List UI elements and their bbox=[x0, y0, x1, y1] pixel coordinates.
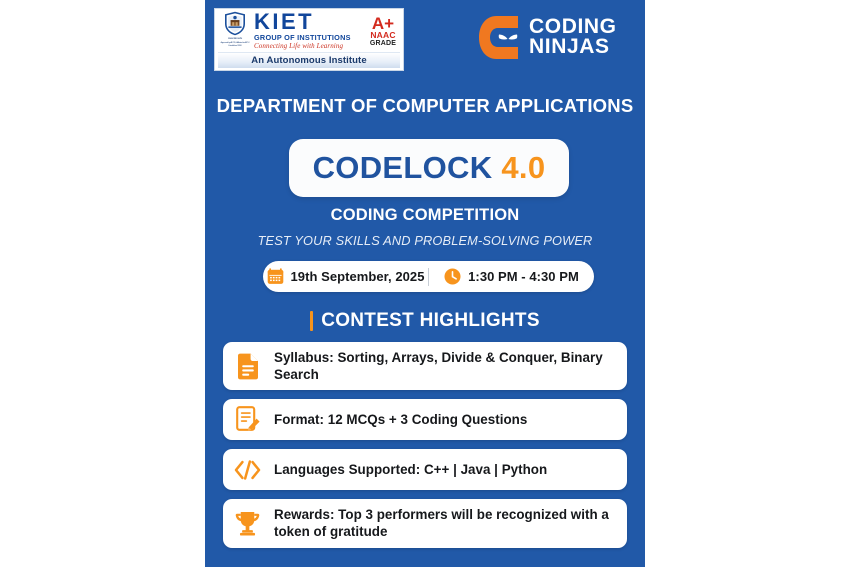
kiet-crest-sub-1: www.kiet.edu bbox=[228, 37, 242, 40]
schedule-time: 1:30 PM - 4:30 PM bbox=[429, 268, 594, 285]
kiet-crest-sub-2: Approved by AICTE, Affiliated to AKTU bbox=[221, 42, 250, 44]
highlight-card-languages: Languages Supported: C++ | Java | Python bbox=[223, 449, 627, 490]
naac-grade-letter: A+ bbox=[372, 16, 394, 31]
highlights-heading-label: CONTEST HIGHLIGHTS bbox=[321, 310, 540, 332]
highlight-card-format-text: Format: 12 MCQs + 3 Coding Questions bbox=[274, 411, 527, 428]
highlight-label-syllabus: Syllabus: bbox=[274, 350, 334, 365]
code-brackets-icon bbox=[234, 456, 261, 483]
highlight-card-languages-text: Languages Supported: C++ | Java | Python bbox=[274, 461, 547, 478]
naac-word: NAAC bbox=[370, 31, 395, 40]
highlights-list: Syllabus: Sorting, Arrays, Divide & Conq… bbox=[223, 342, 627, 548]
kiet-autonomous-banner: An Autonomous Institute bbox=[218, 52, 400, 68]
kiet-wordmark: KIET GROUP OF INSTITUTIONS Connecting Li… bbox=[252, 12, 365, 51]
highlight-card-rewards-text: Rewards: Top 3 performers will be recogn… bbox=[274, 506, 615, 540]
event-subtitle: CODING COMPETITION bbox=[205, 206, 645, 225]
clock-icon bbox=[444, 268, 461, 285]
coding-ninjas-c-mark-icon bbox=[477, 14, 519, 61]
highlight-value-format: 12 MCQs + 3 Coding Questions bbox=[324, 412, 527, 427]
highlight-card-syllabus-text: Syllabus: Sorting, Arrays, Divide & Conq… bbox=[274, 349, 615, 383]
highlight-value-languages: C++ | Java | Python bbox=[420, 462, 547, 477]
event-tagline: TEST YOUR SKILLS AND PROBLEM-SOLVING POW… bbox=[205, 233, 645, 248]
event-poster: www.kiet.edu Approved by AICTE, Affiliat… bbox=[205, 0, 645, 567]
screenshot-canvas: www.kiet.edu Approved by AICTE, Affiliat… bbox=[0, 0, 861, 567]
highlight-label-format: Format: bbox=[274, 412, 324, 427]
highlights-heading: CONTEST HIGHLIGHTS bbox=[205, 310, 645, 332]
kiet-tagline: Connecting Life with Learning bbox=[254, 43, 365, 51]
kiet-logo: www.kiet.edu Approved by AICTE, Affiliat… bbox=[214, 8, 404, 71]
document-edit-icon bbox=[234, 406, 261, 433]
highlight-card-rewards: Rewards: Top 3 performers will be recogn… bbox=[223, 499, 627, 547]
kiet-name: KIET bbox=[254, 12, 365, 33]
schedule-time-label: 1:30 PM - 4:30 PM bbox=[468, 269, 579, 284]
document-icon bbox=[234, 353, 261, 380]
department-title: DEPARTMENT OF COMPUTER APPLICATIONS bbox=[205, 95, 645, 117]
event-title-pill: CODELOCK 4.0 bbox=[289, 139, 569, 197]
highlight-label-languages: Languages Supported: bbox=[274, 462, 420, 477]
trophy-icon bbox=[234, 510, 261, 537]
schedule-date: 19th September, 2025 bbox=[263, 268, 428, 285]
event-title-version: 4.0 bbox=[501, 150, 545, 186]
highlight-label-rewards: Rewards: bbox=[274, 507, 334, 522]
highlights-accent-bar bbox=[310, 311, 313, 331]
coding-ninjas-line-2: NINJAS bbox=[529, 37, 617, 57]
highlight-card-syllabus: Syllabus: Sorting, Arrays, Divide & Conq… bbox=[223, 342, 627, 390]
schedule-pill: 19th September, 2025 1:30 PM - 4:30 PM bbox=[263, 261, 594, 292]
naac-grade-label: GRADE bbox=[370, 40, 396, 47]
coding-ninjas-wordmark: CODING NINJAS bbox=[529, 17, 617, 56]
coding-ninjas-logo: CODING NINJAS bbox=[477, 12, 617, 62]
schedule-date-label: 19th September, 2025 bbox=[291, 269, 425, 284]
event-title-main: CODELOCK bbox=[313, 150, 493, 186]
logo-row: www.kiet.edu Approved by AICTE, Affiliat… bbox=[205, 0, 645, 82]
highlight-card-format: Format: 12 MCQs + 3 Coding Questions bbox=[223, 399, 627, 440]
kiet-naac-badge: A+ NAAC GRADE bbox=[365, 16, 400, 47]
kiet-autonomous-label: An Autonomous Institute bbox=[251, 55, 366, 66]
kiet-group-label: GROUP OF INSTITUTIONS bbox=[254, 34, 365, 42]
calendar-icon bbox=[267, 268, 284, 285]
kiet-crest-sub-3: Established 1998 bbox=[229, 45, 242, 47]
kiet-crest-icon: www.kiet.edu Approved by AICTE, Affiliat… bbox=[218, 11, 252, 51]
kiet-logo-top: www.kiet.edu Approved by AICTE, Affiliat… bbox=[218, 11, 400, 52]
